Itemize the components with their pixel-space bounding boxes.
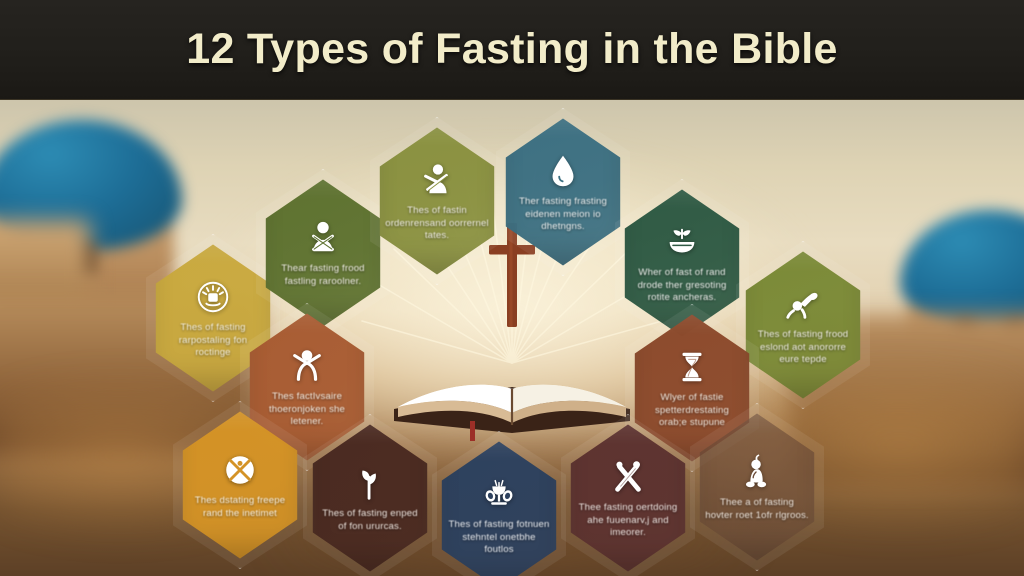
tile-caption: Thes of fasting enped of fon ururcas.: [318, 508, 422, 533]
tile-caption: Thes of fasting fotnuen stehntel onetbhe…: [447, 519, 551, 557]
person-stretching-icon: [784, 285, 822, 323]
person-crossed-arms-icon: [304, 219, 342, 257]
fasting-tile[interactable]: Thes of fasting fotnuen stehntel onetbhe…: [434, 440, 564, 576]
sprout-leaf-icon: [351, 464, 389, 502]
kneeling-prayer-icon: [738, 453, 776, 491]
page-title: 12 Types of Fasting in the Bible: [186, 25, 838, 74]
crossed-tools-icon: [609, 458, 647, 496]
person-arms-sash-icon: [418, 161, 456, 199]
person-praise-icon: [288, 347, 326, 385]
tile-caption: Thee fasting oertdoing ahe fuuenarv,j an…: [576, 502, 680, 540]
infographic-poster: Thes of fasting rarpostaling fon rocting…: [0, 0, 1024, 576]
fasting-tile[interactable]: Thes dstating freepe rand the inetimet: [175, 410, 305, 560]
tile-caption: Thear fasting frood fastling raroolner.: [271, 263, 375, 288]
tile-caption: Thes dstating freepe rand the inetimet: [188, 495, 292, 520]
dome-cap: [900, 210, 1024, 328]
water-droplet-icon: [544, 152, 582, 190]
bowl-sprout-icon: [663, 223, 701, 261]
fasting-tile[interactable]: Thear fasting frood fastling raroolner.: [258, 178, 388, 328]
fasting-tile[interactable]: Ther fasting frasting eidenen meion io d…: [498, 117, 628, 267]
blue-dome-right-icon: [900, 210, 1024, 328]
tile-caption: Thee a of fasting hovter roet 1ofr rlgro…: [705, 497, 809, 522]
crossed-circle-icon: [221, 451, 259, 489]
fasting-tile[interactable]: Thee a of fasting hovter roet 1ofr rlgro…: [692, 412, 822, 562]
tile-caption: Wher of fast of rand drode ther gresotin…: [630, 267, 734, 305]
tile-caption: Thes of fasting frood eslond aot anororr…: [751, 329, 855, 367]
tile-caption: Ther fasting frasting eidenen meion io d…: [511, 196, 615, 234]
hourglass-icon: [673, 348, 711, 386]
fasting-tile[interactable]: Thes of fastin ordenrensand oorrernel ta…: [372, 126, 502, 276]
fasting-tile[interactable]: Thes of fasting enped of fon ururcas.: [305, 423, 435, 573]
sun-radiant-icon: [194, 278, 232, 316]
fasting-tile[interactable]: Thee fasting oertdoing ahe fuuenarv,j an…: [563, 423, 693, 573]
tile-caption: Thes of fastin ordenrensand oorrernel ta…: [385, 205, 489, 243]
header-bar: 12 Types of Fasting in the Bible: [0, 0, 1024, 100]
chalice-cup-icon: [480, 475, 518, 513]
